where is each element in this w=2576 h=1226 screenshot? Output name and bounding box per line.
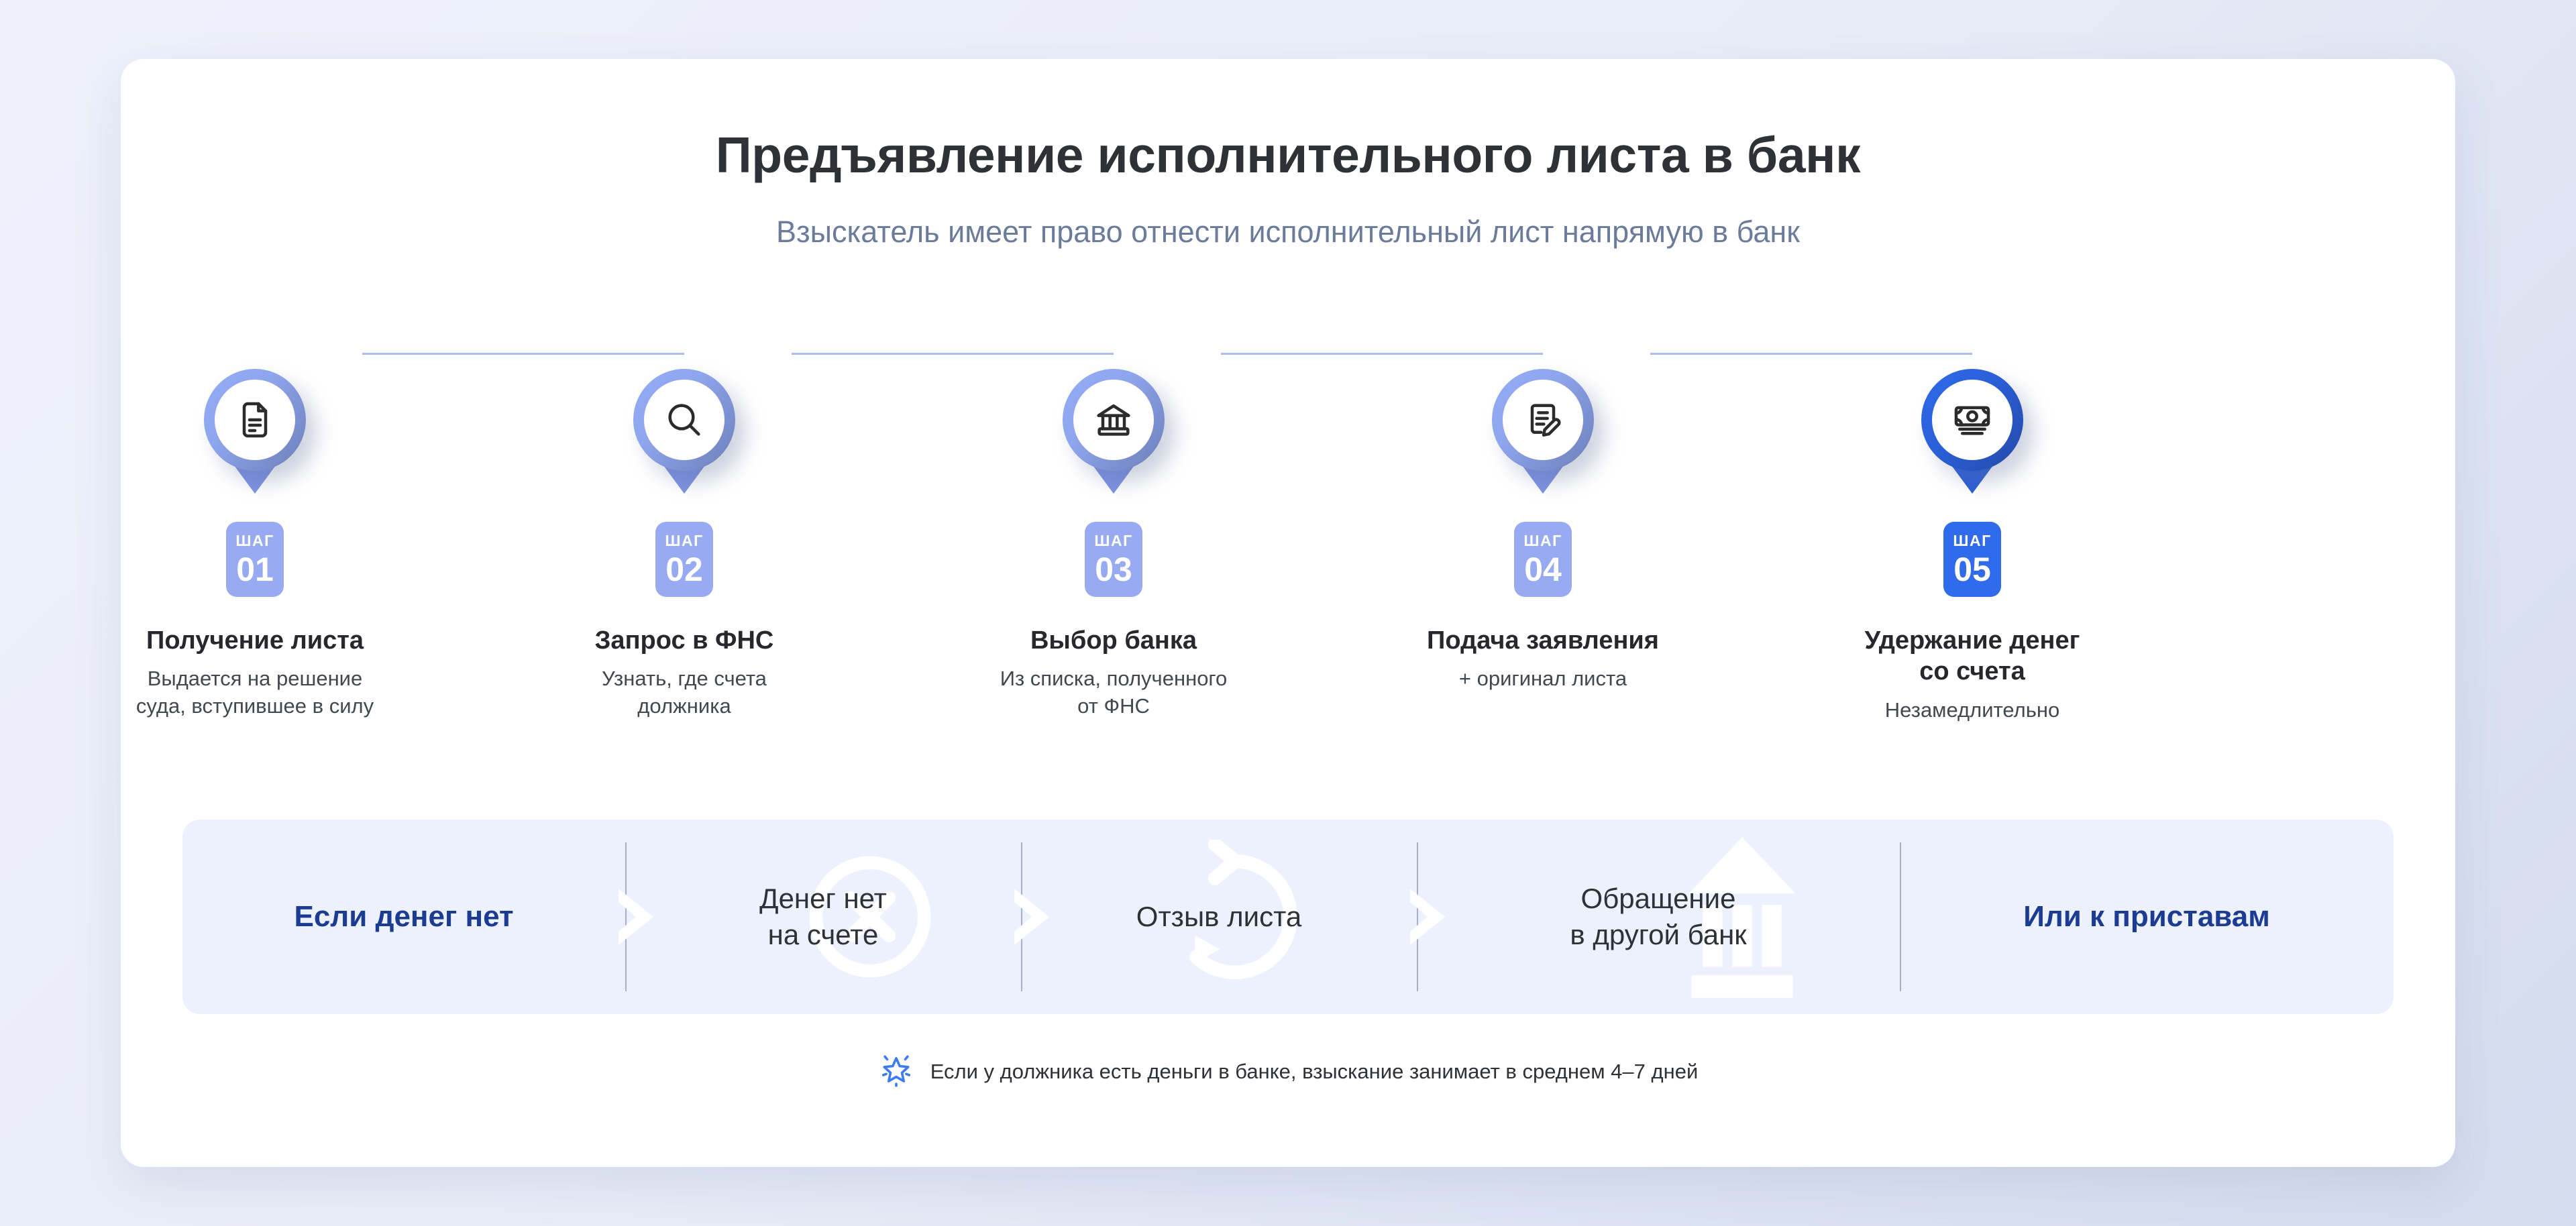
step-pin-2	[496, 314, 872, 522]
pin-inner	[1073, 380, 1154, 460]
step-pin-4	[1355, 314, 1731, 522]
badge-word: ШАГ	[235, 533, 274, 549]
pin-inner	[1932, 380, 2012, 460]
pin-ring	[1492, 369, 1594, 471]
badge-word: ШАГ	[1953, 533, 1991, 549]
search-icon	[663, 398, 706, 441]
step-title-3: Выбор банка	[926, 625, 1301, 656]
step-subtitle-line2: от ФНС	[926, 693, 1301, 720]
badge-number: 02	[665, 553, 703, 586]
banner-tail-label: Или к приставам	[2023, 898, 2270, 936]
step-badge-4: ШАГ 04	[1514, 522, 1572, 597]
step-subtitle-line1: Из списка, полученного	[926, 665, 1301, 693]
pin-inner	[644, 380, 724, 460]
step-title-4: Подача заявления	[1355, 625, 1731, 656]
step-item-4[interactable]: ШАГ 04 Подача заявления + оригинал листа	[1355, 314, 1731, 693]
banner-item-2: Отзыв листа	[1021, 820, 1417, 1014]
chevron-right-icon-3	[1407, 889, 1472, 948]
badge-word: ШАГ	[665, 533, 703, 549]
banner-item-1: Денег нет на счете	[625, 820, 1021, 1014]
pin-ring	[1921, 369, 2023, 471]
step-title-2: Запрос в ФНС	[496, 625, 872, 656]
step-badge-row-1: ШАГ 01	[67, 522, 443, 601]
badge-number: 05	[1953, 553, 1991, 586]
step-item-1[interactable]: ШАГ 01 Получение листа Выдается на решен…	[67, 314, 443, 720]
banner-item-label-3: Обращение в другой банк	[1570, 881, 1746, 953]
infographic-canvas: Предъявление исполнительного листа в бан…	[0, 0, 2576, 1226]
banner-item-line2: в другой банк	[1570, 917, 1746, 953]
banner-item-label-2: Отзыв листа	[1136, 899, 1301, 935]
banner-item-line2: на счете	[759, 917, 887, 953]
step-badge-row-4: ШАГ 04	[1355, 522, 1731, 601]
badge-number: 01	[236, 553, 274, 586]
banner-divider-4	[1900, 842, 1901, 991]
step-subtitle-5: Незамедлительно	[1784, 697, 2160, 724]
step-subtitle-4: + оригинал листа	[1355, 665, 1731, 693]
pin-ring	[1063, 369, 1165, 471]
pin-ring	[633, 369, 735, 471]
banner-item-label-1: Денег нет на счете	[759, 881, 887, 953]
chevron-right-icon-2	[1012, 889, 1076, 948]
step-title-1: Получение листа	[67, 625, 443, 656]
step-item-3[interactable]: ШАГ 03 Выбор банка Из списка, полученног…	[926, 314, 1301, 720]
pin-ring	[204, 369, 306, 471]
bank-icon	[1092, 398, 1135, 441]
step-pin-3	[926, 314, 1301, 522]
pin-inner	[1503, 380, 1583, 460]
step-title-line2: со счета	[1784, 656, 2160, 687]
step-badge-row-5: ШАГ 05	[1784, 522, 2160, 601]
footer-note: Если у должника есть деньги в банке, взы…	[121, 1052, 2455, 1091]
step-subtitle-line1: Незамедлительно	[1784, 697, 2160, 724]
banner-lead-label: Если денег нет	[294, 898, 513, 936]
step-subtitle-line1: Выдается на решение	[67, 665, 443, 693]
document-edit-icon	[1521, 398, 1564, 441]
step-subtitle-1: Выдается на решение суда, вступившее в с…	[67, 665, 443, 720]
banner-item-line1: Денег нет	[759, 881, 887, 917]
step-subtitle-3: Из списка, полученного от ФНС	[926, 665, 1301, 720]
step-title-5: Удержание денег со счета	[1784, 625, 2160, 687]
chevron-right-icon-1	[616, 889, 680, 948]
step-subtitle-2: Узнать, где счета должника	[496, 665, 872, 720]
step-badge-2: ШАГ 02	[655, 522, 713, 597]
banner-item-line1: Отзыв листа	[1136, 899, 1301, 935]
step-badge-row-2: ШАГ 02	[496, 522, 872, 601]
step-pin-1	[67, 314, 443, 522]
banner-item-3: Обращение в другой банк	[1417, 820, 1900, 1014]
badge-number: 04	[1524, 553, 1562, 586]
badge-number: 03	[1095, 553, 1132, 586]
badge-word: ШАГ	[1523, 533, 1562, 549]
page-title: Предъявление исполнительного листа в бан…	[121, 126, 2455, 184]
banner-item-line1: Обращение	[1570, 881, 1746, 917]
banner-lead: Если денег нет	[182, 820, 625, 1014]
step-badge-1: ШАГ 01	[226, 522, 284, 597]
step-subtitle-line1: Узнать, где счета	[496, 665, 872, 693]
step-subtitle-line2: суда, вступившее в силу	[67, 693, 443, 720]
step-item-2[interactable]: ШАГ 02 Запрос в ФНС Узнать, где счета до…	[496, 314, 872, 720]
sparkle-star-icon	[878, 1052, 914, 1091]
step-item-5[interactable]: ШАГ 05 Удержание денег со счета Незамедл…	[1784, 314, 2160, 724]
footer-note-text: Если у должника есть деньги в банке, взы…	[930, 1060, 1699, 1084]
steps-row: ШАГ 01 Получение листа Выдается на решен…	[121, 314, 2455, 797]
document-icon	[233, 398, 276, 441]
banner-tail: Или к приставам	[1900, 820, 2394, 1014]
step-title-line1: Удержание денег	[1784, 625, 2160, 656]
content-card: Предъявление исполнительного листа в бан…	[121, 59, 2455, 1167]
step-badge-3: ШАГ 03	[1085, 522, 1142, 597]
fallback-banner: Если денег нет Денег нет на счете	[182, 820, 2394, 1014]
step-pin-5	[1784, 314, 2160, 522]
step-subtitle-line2: должника	[496, 693, 872, 720]
step-subtitle-line1: + оригинал листа	[1355, 665, 1731, 693]
step-badge-row-3: ШАГ 03	[926, 522, 1301, 601]
banknote-icon	[1951, 398, 1994, 441]
pin-inner	[215, 380, 295, 460]
page-subtitle: Взыскатель имеет право отнести исполните…	[121, 215, 2455, 249]
step-badge-5: ШАГ 05	[1943, 522, 2001, 597]
badge-word: ШАГ	[1094, 533, 1132, 549]
